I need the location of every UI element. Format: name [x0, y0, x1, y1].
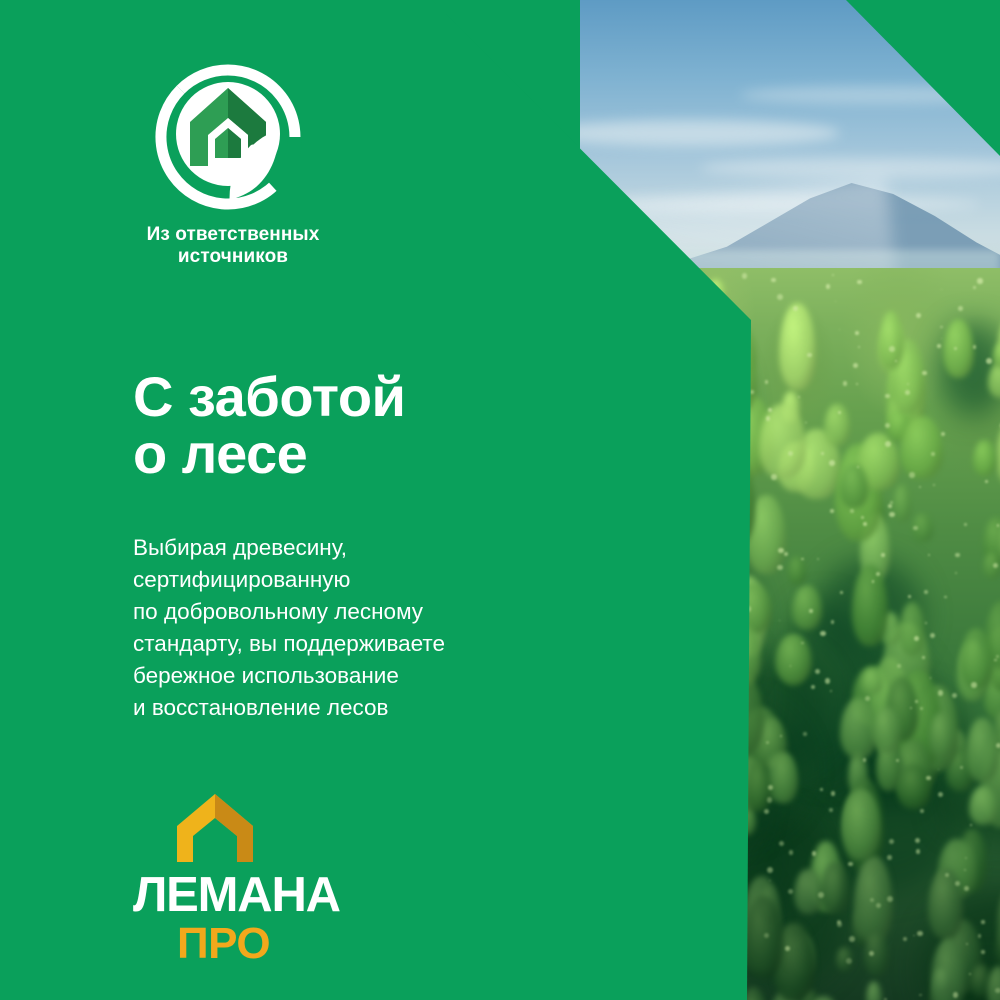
leaf-highlight — [916, 313, 921, 318]
leaf-highlight — [779, 620, 781, 622]
tree-crown — [929, 712, 954, 759]
lemana-house-icon — [175, 792, 255, 864]
leaf-highlight — [917, 931, 923, 937]
leaf-highlight — [856, 383, 858, 385]
leaf-highlight — [955, 572, 957, 574]
leaf-highlight — [887, 855, 891, 859]
leaf-highlight — [858, 346, 861, 349]
leaf-highlight — [986, 358, 992, 364]
leaf-highlight — [768, 785, 773, 790]
leaf-highlight — [849, 936, 855, 942]
leaf-highlight — [865, 696, 870, 701]
leaf-highlight — [997, 524, 1000, 527]
leaf-highlight — [771, 474, 776, 479]
badge-caption: Из ответственных источников — [133, 224, 333, 268]
leaf-highlight — [908, 595, 911, 598]
leaf-highlight — [910, 707, 912, 709]
leaf-highlight — [837, 920, 841, 924]
leaf-highlight — [928, 554, 930, 556]
leaf-highlight — [768, 408, 772, 412]
leaf-highlight — [955, 881, 960, 886]
leaf-highlight — [815, 669, 820, 674]
tree-crown — [973, 440, 996, 476]
page-title: С заботой о лесе — [133, 368, 693, 483]
leaf-highlight — [843, 381, 848, 386]
leaf-highlight — [857, 466, 859, 468]
leaf-highlight — [944, 596, 946, 598]
leaf-highlight — [995, 988, 1000, 993]
tree-crown — [900, 416, 943, 478]
body-line: стандарту, вы поддерживаете — [133, 628, 653, 660]
leaf-highlight — [919, 994, 921, 996]
leaf-highlight — [970, 824, 972, 826]
leaf-highlight — [812, 851, 816, 855]
leaf-highlight — [829, 460, 835, 466]
leaf-highlight — [829, 808, 833, 812]
leaf-highlight — [977, 278, 982, 283]
leaf-highlight — [826, 284, 830, 288]
leaf-highlight — [839, 329, 841, 331]
leaf-highlight — [857, 280, 861, 284]
leaf-highlight — [897, 664, 901, 668]
tree-crown — [864, 931, 889, 976]
tree-crown — [788, 556, 806, 585]
leaf-highlight — [807, 353, 812, 358]
tree-crown — [943, 319, 974, 378]
leaf-highlight — [767, 867, 773, 873]
leaf-highlight — [831, 791, 836, 796]
badge-caption-line2: источников — [178, 246, 288, 267]
leaf-highlight — [780, 735, 782, 737]
leaf-highlight — [941, 338, 943, 340]
responsible-sources-badge: Из ответственных источников — [133, 62, 333, 268]
leaf-highlight — [853, 363, 858, 368]
headline-line1: С заботой — [133, 365, 405, 428]
tree-crown — [779, 303, 816, 390]
tree-crown — [969, 786, 998, 826]
leaf-highlight — [832, 274, 834, 276]
leaf-highlight — [952, 693, 957, 698]
leaf-highlight — [933, 484, 935, 486]
leaf-highlight — [937, 344, 941, 348]
leaf-highlight — [881, 553, 884, 556]
leaf-highlight — [981, 920, 984, 923]
leaf-highlight — [793, 306, 798, 311]
leaf-highlight — [955, 553, 959, 557]
responsible-sources-house-leaf-seal-icon — [153, 62, 303, 212]
leaf-highlight — [938, 690, 944, 696]
tree-crown — [792, 585, 823, 630]
leaf-highlight — [930, 677, 932, 679]
leaf-highlight — [930, 633, 936, 639]
leaf-highlight — [788, 889, 793, 894]
body-line: и восстановление лесов — [133, 692, 653, 724]
body-line: по добровольному лесному — [133, 596, 653, 628]
leaf-highlight — [915, 700, 918, 703]
leaf-highlight — [978, 934, 982, 938]
leaf-highlight — [777, 565, 782, 570]
leaf-highlight — [820, 631, 825, 636]
leaf-highlight — [885, 423, 890, 428]
leaf-highlight — [830, 509, 834, 513]
leaf-highlight — [885, 394, 890, 399]
leaf-highlight — [846, 958, 852, 964]
leaf-highlight — [805, 422, 807, 424]
leaf-highlight — [888, 504, 892, 508]
leaf-highlight — [996, 655, 999, 658]
tree-crown — [893, 484, 911, 522]
leaf-highlight — [985, 480, 988, 483]
tree-crown — [852, 565, 887, 646]
leaf-highlight — [784, 552, 789, 557]
tree-crown — [862, 668, 882, 694]
leaf-highlight — [785, 946, 790, 951]
tree-crown — [879, 311, 904, 369]
leaf-highlight — [850, 509, 853, 512]
leaf-highlight — [973, 286, 976, 289]
leaf-highlight — [925, 622, 927, 624]
leaf-highlight — [924, 590, 928, 594]
headline-line2: о лесе — [133, 425, 693, 483]
leaf-highlight — [960, 766, 962, 768]
tree-crown — [821, 862, 849, 914]
leaf-highlight — [777, 294, 783, 300]
leaf-highlight — [916, 849, 920, 853]
tree-crown — [897, 765, 931, 809]
body-paragraph: Выбирая древесину,сертифицированнуюпо до… — [133, 532, 653, 724]
leaf-highlight — [941, 432, 945, 436]
leaf-highlight — [964, 886, 969, 891]
leaf-highlight — [887, 896, 893, 902]
leaf-highlight — [835, 301, 837, 303]
tree-crown — [928, 869, 963, 939]
leaf-highlight — [825, 678, 830, 683]
leaf-highlight — [913, 935, 915, 937]
leaf-highlight — [765, 380, 769, 384]
leaf-highlight — [789, 850, 794, 855]
leaf-highlight — [922, 656, 924, 658]
leaf-highlight — [769, 880, 771, 882]
leaf-highlight — [890, 501, 893, 504]
leaf-highlight — [830, 690, 832, 692]
poster: Из ответственных источников С заботой о … — [0, 0, 1000, 1000]
body-line: Выбирая древесину, — [133, 532, 653, 564]
lemana-pro-logo: ЛЕМАНА ПРО — [133, 792, 433, 966]
leaf-highlight — [803, 732, 806, 735]
tree-crown — [866, 981, 882, 1000]
leaf-highlight — [969, 973, 971, 975]
tree-crown — [794, 869, 822, 914]
leaf-highlight — [863, 758, 867, 762]
leaf-highlight — [981, 950, 984, 953]
leaf-highlight — [855, 331, 859, 335]
leaf-highlight — [971, 682, 977, 688]
leaf-highlight — [996, 743, 1000, 748]
leaf-highlight — [869, 951, 874, 956]
tree-crown — [996, 418, 1000, 489]
leaf-highlight — [817, 558, 819, 560]
leaf-highlight — [863, 522, 867, 526]
lemana-pro-suffix: ПРО — [177, 922, 433, 966]
leaf-highlight — [914, 636, 919, 641]
leaf-highlight — [909, 472, 914, 477]
leaf-highlight — [973, 345, 977, 349]
tree-crown — [772, 753, 798, 803]
leaf-highlight — [919, 486, 921, 488]
badge-caption-line1: Из ответственных — [147, 224, 320, 245]
tree-crown — [824, 404, 850, 446]
leaf-highlight — [771, 278, 776, 283]
leaf-highlight — [798, 396, 800, 398]
lemana-wordmark: ЛЕМАНА — [133, 871, 433, 920]
leaf-highlight — [778, 548, 783, 553]
leaf-highlight — [767, 797, 772, 802]
tree-crown — [966, 718, 999, 782]
body-line: сертифицированную — [133, 564, 653, 596]
leaf-highlight — [889, 512, 894, 517]
leaf-highlight — [938, 792, 943, 797]
tree-crown — [840, 464, 868, 508]
leaf-highlight — [861, 516, 864, 519]
body-line: бережное использование — [133, 660, 653, 692]
leaf-highlight — [953, 992, 958, 997]
leaf-highlight — [903, 937, 907, 941]
leaf-highlight — [922, 371, 926, 375]
leaf-highlight — [964, 523, 967, 526]
content-column: Из ответственных источников С заботой о … — [0, 0, 751, 1000]
leaf-highlight — [940, 326, 943, 329]
leaf-highlight — [889, 839, 894, 844]
leaf-highlight — [907, 383, 909, 385]
leaf-highlight — [958, 306, 963, 311]
leaf-highlight — [848, 862, 852, 866]
leaf-highlight — [809, 609, 813, 613]
leaf-highlight — [941, 289, 943, 291]
